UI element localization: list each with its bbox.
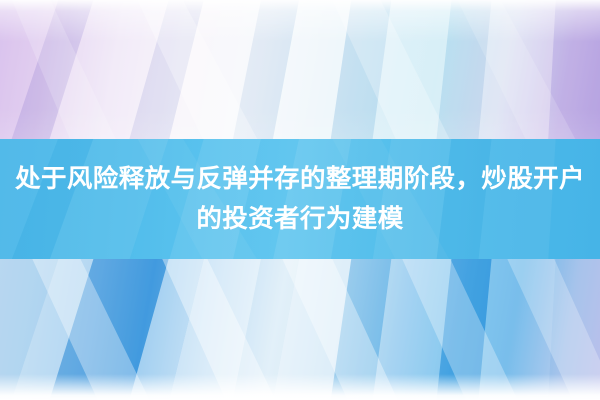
bottom-white-fade bbox=[0, 374, 600, 400]
top-band-white-wash bbox=[0, 0, 600, 139]
top-decorative-band bbox=[0, 0, 600, 139]
bottom-decorative-band bbox=[0, 259, 600, 400]
banner-title: 处于风险释放与反弹并存的整理期阶段，炒股开户的投资者行为建模 bbox=[8, 159, 592, 239]
title-text-container: 处于风险释放与反弹并存的整理期阶段，炒股开户的投资者行为建模 bbox=[0, 139, 600, 259]
cover-banner: 处于风险释放与反弹并存的整理期阶段，炒股开户的投资者行为建模 bbox=[0, 0, 600, 400]
